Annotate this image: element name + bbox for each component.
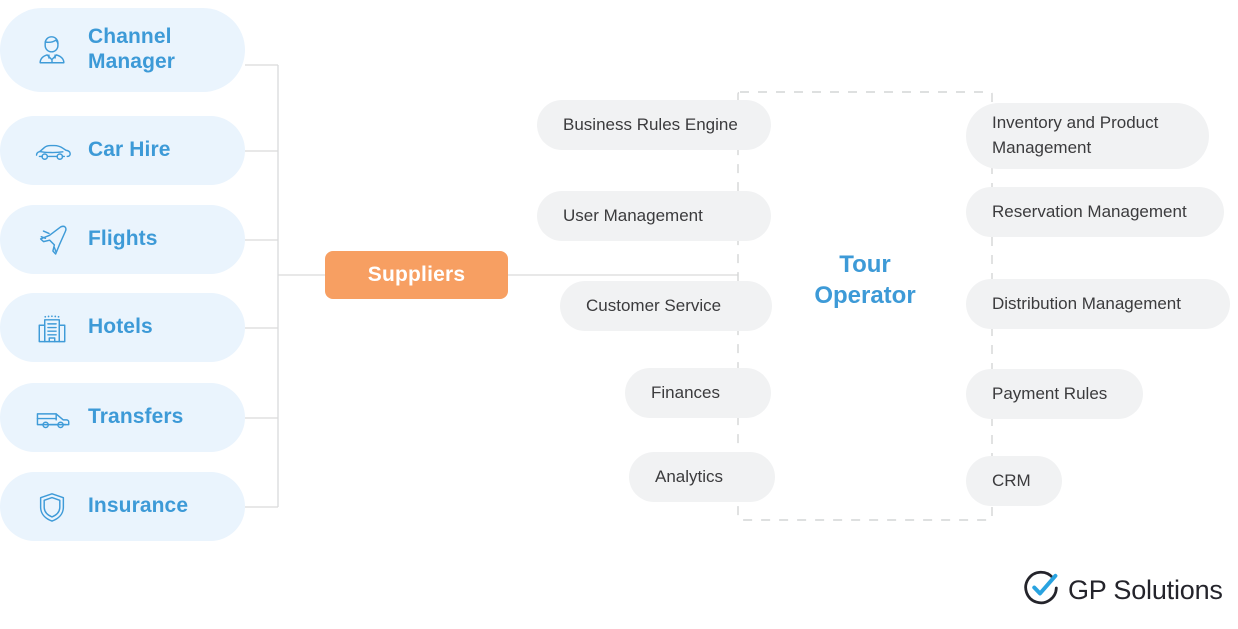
capability-label: Customer Service <box>586 294 721 319</box>
shield-icon <box>30 485 74 529</box>
capability-pill-finances[interactable]: Finances <box>625 368 771 418</box>
airplane-icon <box>30 218 74 262</box>
supplier-label-flights: Flights <box>88 227 158 252</box>
supplier-pill-car-hire[interactable]: Car Hire <box>0 116 245 185</box>
hotel-icon <box>30 306 74 350</box>
capability-pill-user-management[interactable]: User Management <box>537 191 771 241</box>
supplier-pill-channel-manager[interactable]: Channel Manager <box>0 8 245 92</box>
brand-name: GP Solutions <box>1068 575 1223 606</box>
shuttle-bus-icon <box>30 396 74 440</box>
agent-person-icon <box>30 28 74 72</box>
supplier-pill-transfers[interactable]: Transfers <box>0 383 245 452</box>
capability-pill-customer-service[interactable]: Customer Service <box>560 281 772 331</box>
supplier-pill-hotels[interactable]: Hotels <box>0 293 245 362</box>
supplier-label-insurance: Insurance <box>88 494 188 519</box>
capability-pill-reservation-management[interactable]: Reservation Management <box>966 187 1224 237</box>
supplier-label-transfers: Transfers <box>88 405 183 430</box>
supplier-label-car-hire: Car Hire <box>88 138 171 163</box>
suppliers-hub-node[interactable]: Suppliers <box>325 251 508 299</box>
capability-pill-business-rules-engine[interactable]: Business Rules Engine <box>537 100 771 150</box>
check-circle-icon <box>1023 570 1059 611</box>
capability-label: Distribution Management <box>992 292 1181 317</box>
capability-label: Finances <box>651 381 720 406</box>
supplier-pill-flights[interactable]: Flights <box>0 205 245 274</box>
supplier-label-hotels: Hotels <box>88 315 153 340</box>
capability-label: Inventory and Product Management <box>992 111 1183 160</box>
capability-label: Analytics <box>655 465 723 490</box>
capability-label: Business Rules Engine <box>563 113 738 138</box>
capability-label: Payment Rules <box>992 382 1107 407</box>
capability-pill-crm[interactable]: CRM <box>966 456 1062 506</box>
capability-label: CRM <box>992 469 1031 494</box>
car-icon <box>30 129 74 173</box>
tour-operator-title-line-1: Tour <box>790 250 940 281</box>
diagram-canvas: Channel Manager Car Hire <box>0 0 1238 629</box>
tour-operator-title: Tour Operator <box>790 250 940 311</box>
brand-logo: GP Solutions <box>1023 570 1223 611</box>
capability-pill-payment-rules[interactable]: Payment Rules <box>966 369 1143 419</box>
capability-pill-distribution-management[interactable]: Distribution Management <box>966 279 1230 329</box>
capability-pill-analytics[interactable]: Analytics <box>629 452 775 502</box>
supplier-pill-insurance[interactable]: Insurance <box>0 472 245 541</box>
capability-pill-inventory-and-product-management[interactable]: Inventory and Product Management <box>966 103 1209 169</box>
tour-operator-title-line-2: Operator <box>790 281 940 312</box>
supplier-label-channel-manager: Channel Manager <box>88 25 245 75</box>
suppliers-hub-label: Suppliers <box>368 263 466 287</box>
capability-label: User Management <box>563 204 703 229</box>
capability-label: Reservation Management <box>992 200 1187 225</box>
